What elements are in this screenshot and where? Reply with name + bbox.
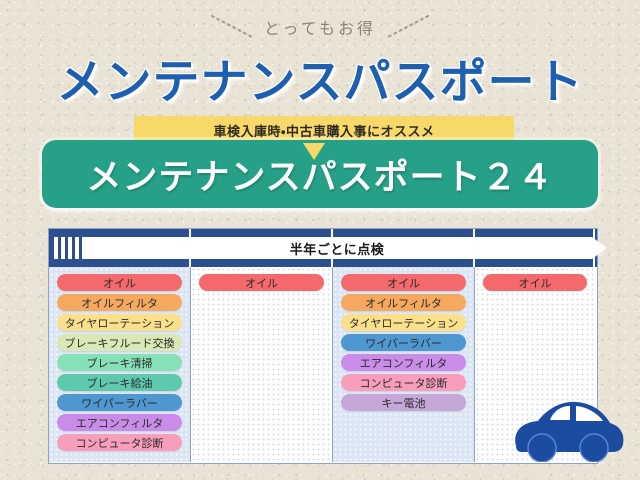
promo-caption-text: とってもお得 bbox=[260, 15, 380, 39]
interval-tick bbox=[54, 237, 58, 259]
service-item-pill: エアコンフィルタ bbox=[341, 354, 466, 371]
service-item-pill: オイル bbox=[199, 274, 324, 291]
service-item-pill: ブレーキ清掃 bbox=[57, 354, 182, 371]
arrow-right-icon bbox=[592, 237, 607, 259]
service-item-pill: エアコンフィルタ bbox=[57, 414, 182, 431]
inspection-interval-bar: 半年ごとに点検 bbox=[54, 237, 592, 259]
service-item-pill: ブレーキフルード交換 bbox=[57, 334, 182, 351]
schedule-column-period-2: オイル bbox=[191, 267, 333, 462]
interval-tick bbox=[61, 237, 65, 259]
dashed-line-left-icon bbox=[208, 12, 260, 42]
page-title: メンテナンスパスポート bbox=[0, 46, 640, 108]
service-item-pill: オイルフィルタ bbox=[341, 294, 466, 311]
service-item-pill: オイルフィルタ bbox=[57, 294, 182, 311]
interval-tick bbox=[75, 237, 79, 259]
ribbon-pointer-icon bbox=[303, 143, 325, 160]
service-item-pill: タイヤローテーション bbox=[341, 314, 466, 331]
promo-caption: とってもお得 bbox=[0, 10, 640, 44]
car-icon bbox=[506, 390, 626, 462]
service-item-pill: コンピュータ診断 bbox=[57, 434, 182, 451]
table-header-row: 半年ごとに点検 bbox=[49, 229, 597, 267]
service-item-pill: コンピュータ診断 bbox=[341, 374, 466, 391]
inspection-interval-label: 半年ごとに点検 bbox=[290, 239, 385, 258]
service-item-pill: キー電池 bbox=[341, 394, 466, 411]
service-item-pill: オイル bbox=[57, 274, 182, 291]
interval-tick-marks-icon bbox=[54, 237, 79, 259]
dashed-line-right-icon bbox=[380, 12, 432, 42]
service-item-pill: タイヤローテーション bbox=[57, 314, 182, 331]
schedule-column-period-1: オイルオイルフィルタタイヤローテーションブレーキフルード交換ブレーキ清掃ブレーキ… bbox=[49, 267, 191, 462]
interval-tick bbox=[68, 237, 72, 259]
recommendation-ribbon-text: 車検入庫時・中古車購入事にオススメ bbox=[214, 121, 435, 140]
schedule-column-period-3: オイルオイルフィルタタイヤローテーションワイパーラバーエアコンフィルタコンピュー… bbox=[333, 267, 475, 462]
service-item-pill: ブレーキ給油 bbox=[57, 374, 182, 391]
service-item-pill: ワイパーラバー bbox=[341, 334, 466, 351]
service-item-pill: オイル bbox=[483, 274, 587, 291]
service-item-pill: ワイパーラバー bbox=[57, 394, 182, 411]
service-item-pill: オイル bbox=[341, 274, 466, 291]
interval-bar-body: 半年ごとに点検 bbox=[82, 237, 592, 259]
